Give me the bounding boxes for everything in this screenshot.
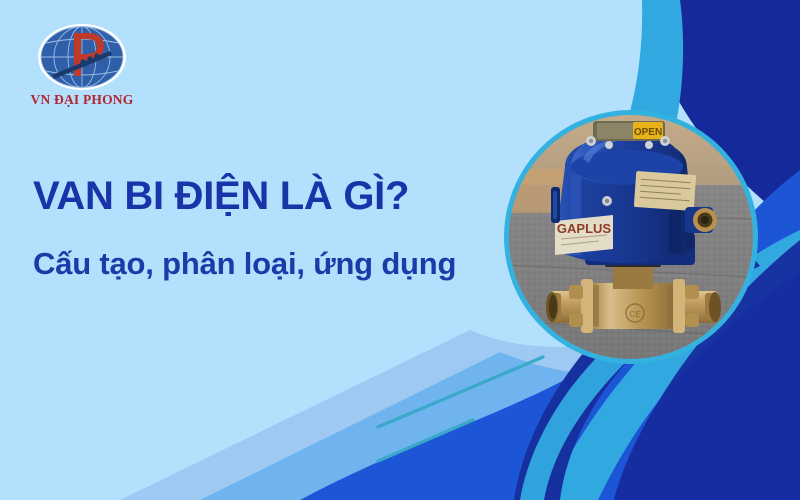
svg-text:CE: CE (629, 310, 640, 319)
electric-ball-valve-illustration: CE OPEN (509, 115, 753, 359)
globe-icon (36, 22, 128, 92)
brand-name: VN ĐẠI PHONG (22, 92, 142, 108)
page-subtitle: Cấu tạo, phân loại, ứng dụng (33, 248, 456, 279)
product-photo-circle: CE OPEN (504, 110, 758, 364)
product-photo: CE OPEN (509, 115, 753, 359)
brand-logo: VN ĐẠI PHONG (22, 22, 142, 117)
svg-text:GAPLUS: GAPLUS (557, 221, 612, 236)
svg-text:OPEN: OPEN (634, 127, 662, 138)
article-banner: VN ĐẠI PHONG VAN BI ĐIỆN LÀ GÌ? Cấu tạo,… (0, 0, 800, 500)
page-title: VAN BI ĐIỆN LÀ GÌ? (33, 176, 409, 216)
